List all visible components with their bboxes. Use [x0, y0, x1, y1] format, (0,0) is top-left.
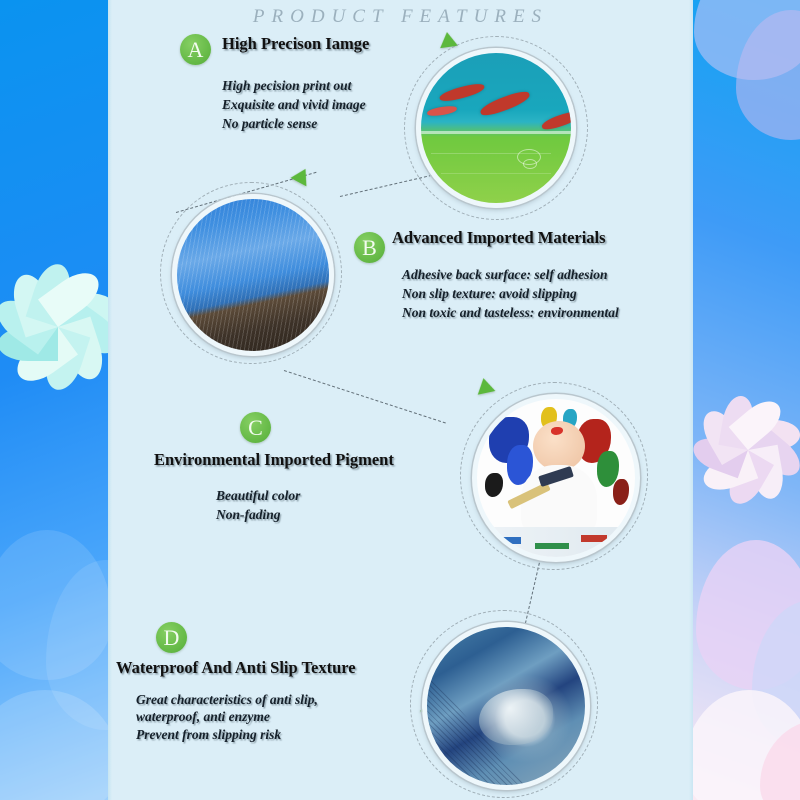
- infographic-canvas: PRODUCT FEATURES A High Precison Iamge H…: [0, 0, 800, 800]
- photo-c-wrapper: [456, 380, 656, 568]
- blue-fabric-photo-content: [177, 199, 329, 351]
- features-panel: PRODUCT FEATURES A High Precison Iamge H…: [108, 0, 693, 800]
- section-body-a-line2: Exquisite and vivid image: [222, 95, 366, 114]
- photo-a-wrapper: [398, 38, 598, 218]
- section-body-d-line3: Prevent from slipping risk: [136, 725, 281, 744]
- section-title-a: High Precison Iamge: [222, 34, 369, 54]
- painting-baby-photo-content: [477, 399, 635, 557]
- section-body-a-line1: High pecision print out: [222, 76, 351, 95]
- koi-pond-photo: [416, 48, 576, 208]
- section-body-c-line2: Non-fading: [216, 505, 281, 524]
- water-texture-photo: [422, 622, 590, 790]
- background-left-panel: [0, 0, 112, 800]
- section-body-c-line1: Beautiful color: [216, 486, 300, 505]
- section-body-d-line2: waterproof, anti enzyme: [136, 707, 270, 726]
- section-title-b: Advanced Imported Materials: [392, 228, 606, 248]
- page-title: PRODUCT FEATURES: [108, 6, 693, 28]
- connector-b-to-c: [284, 370, 446, 423]
- blue-fabric-photo: [172, 194, 334, 356]
- background-right-panel: [690, 0, 800, 800]
- painting-baby-photo: [472, 394, 640, 562]
- section-badge-d: D: [156, 622, 187, 653]
- section-body-a-line3: No particle sense: [222, 114, 317, 133]
- section-badge-a: A: [180, 34, 211, 65]
- section-title-d: Waterproof And Anti Slip Texture: [116, 658, 356, 678]
- section-body-b-line1: Adhesive back surface: self adhesion: [402, 265, 607, 284]
- water-texture-photo-content: [427, 627, 585, 785]
- photo-d-wrapper: [406, 608, 606, 798]
- section-badge-c: C: [240, 412, 271, 443]
- section-body-b-line2: Non slip texture: avoid slipping: [402, 284, 577, 303]
- section-title-c: Environmental Imported Pigment: [154, 450, 394, 470]
- koi-pond-photo-content: [421, 53, 571, 203]
- section-badge-b: B: [354, 232, 385, 263]
- section-body-b-line3: Non toxic and tasteless: environmental: [402, 303, 619, 322]
- photo-b-wrapper: [160, 178, 355, 363]
